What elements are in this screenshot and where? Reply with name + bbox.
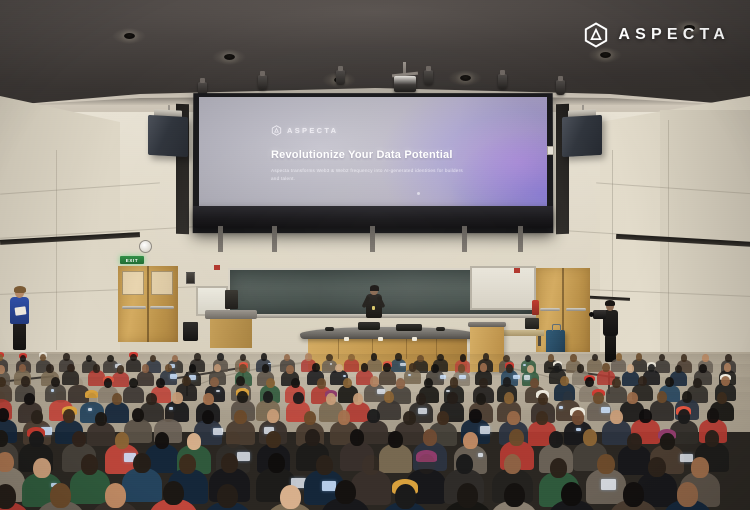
screen-support-leg — [272, 226, 277, 252]
wall-outlet-plate — [547, 146, 554, 155]
slide-title: Revolutionize Your Data Potential — [271, 149, 453, 161]
screen-support-leg — [218, 226, 223, 252]
door-push-bar[interactable] — [122, 306, 146, 309]
video-camera — [593, 310, 606, 319]
track-light — [424, 70, 433, 85]
exit-door-left[interactable] — [118, 266, 178, 342]
emergency-button[interactable] — [214, 265, 220, 270]
standing-attendee-legs — [13, 323, 26, 350]
screen-support-leg — [518, 226, 523, 252]
audience-depth-haze — [0, 455, 750, 467]
hexagon-a-logo-icon — [271, 125, 282, 136]
presenter-badge — [372, 306, 375, 310]
audience-depth-haze — [0, 410, 750, 422]
wall-speaker-left — [148, 115, 188, 157]
door-push-bar[interactable] — [150, 306, 174, 309]
audience-seating — [0, 352, 750, 510]
audience-depth-haze — [0, 392, 750, 404]
bench-leg — [538, 336, 541, 346]
audience-depth-haze — [0, 377, 750, 389]
ceiling-downlight — [224, 54, 235, 60]
track-light — [258, 75, 267, 90]
ceiling-projector — [392, 62, 418, 92]
card-reader[interactable] — [186, 272, 195, 284]
wall-clock — [139, 240, 152, 253]
door-window — [122, 271, 144, 295]
door-center-split — [147, 266, 149, 342]
slide-brand-text: ASPECTA — [287, 126, 338, 135]
trash-bin — [183, 322, 198, 341]
side-table-body — [210, 318, 252, 348]
side-table-top — [205, 310, 257, 319]
door-window — [151, 271, 173, 295]
slide-brand-lockup: ASPECTA — [271, 125, 338, 136]
projection-screen-valance — [193, 206, 553, 228]
side-monitor-right — [525, 318, 539, 329]
whiteboard-panel-right — [470, 266, 536, 310]
fire-extinguisher — [532, 300, 539, 315]
hexagon-a-logo-icon — [583, 22, 609, 48]
wall-panel-seam — [56, 150, 57, 350]
lectern-latch — [378, 337, 383, 341]
lectern-latch — [412, 337, 417, 341]
exit-sign: EXIT — [120, 256, 144, 264]
left-wall — [0, 96, 120, 396]
aspecta-watermark-text: ASPECTA — [618, 26, 730, 44]
track-light — [498, 74, 507, 89]
wall-speaker-right — [562, 115, 602, 157]
desk-control-panel[interactable] — [396, 324, 422, 331]
projection-screen-surface: ASPECTA Revolutionize Your Data Potentia… — [199, 97, 547, 209]
ceiling-downlight — [600, 52, 611, 58]
screen-support-leg — [462, 226, 467, 252]
audience-depth-haze — [0, 364, 750, 376]
emergency-button[interactable] — [514, 268, 520, 273]
ceiling-downlight — [124, 33, 135, 39]
held-paper — [14, 306, 26, 315]
projector-body — [394, 76, 416, 92]
audience-depth-haze — [0, 431, 750, 443]
door-push-bar[interactable] — [540, 308, 560, 311]
audience-phone — [559, 406, 563, 409]
door-push-bar[interactable] — [566, 308, 586, 311]
presenter-hair — [370, 285, 379, 291]
standing-attendee-hair — [14, 286, 26, 293]
aspecta-watermark: ASPECTA — [583, 22, 730, 48]
speaker-enclosure — [562, 115, 602, 157]
track-light — [556, 80, 565, 95]
desk-device — [436, 327, 445, 331]
photo-scene: ASPECTA Revolutionize Your Data Potentia… — [0, 0, 750, 510]
wall-panel-seam — [668, 120, 669, 370]
screen-support-leg — [370, 226, 375, 252]
standing-attendee — [8, 288, 32, 350]
presenter — [363, 286, 385, 330]
videographer-hair — [605, 300, 615, 306]
slide-subtitle: Aspecta transforms Web3 & Web2 frequency… — [271, 167, 467, 184]
speaker-enclosure — [148, 115, 188, 157]
side-table-monitor — [225, 290, 238, 309]
ceiling-downlight — [460, 75, 471, 81]
exit-sign-label: EXIT — [126, 258, 138, 263]
lectern-latch — [344, 337, 349, 341]
track-light — [336, 70, 345, 85]
desk-device — [325, 327, 334, 331]
side-table — [205, 310, 257, 348]
slide-bullet-dot — [417, 192, 420, 195]
